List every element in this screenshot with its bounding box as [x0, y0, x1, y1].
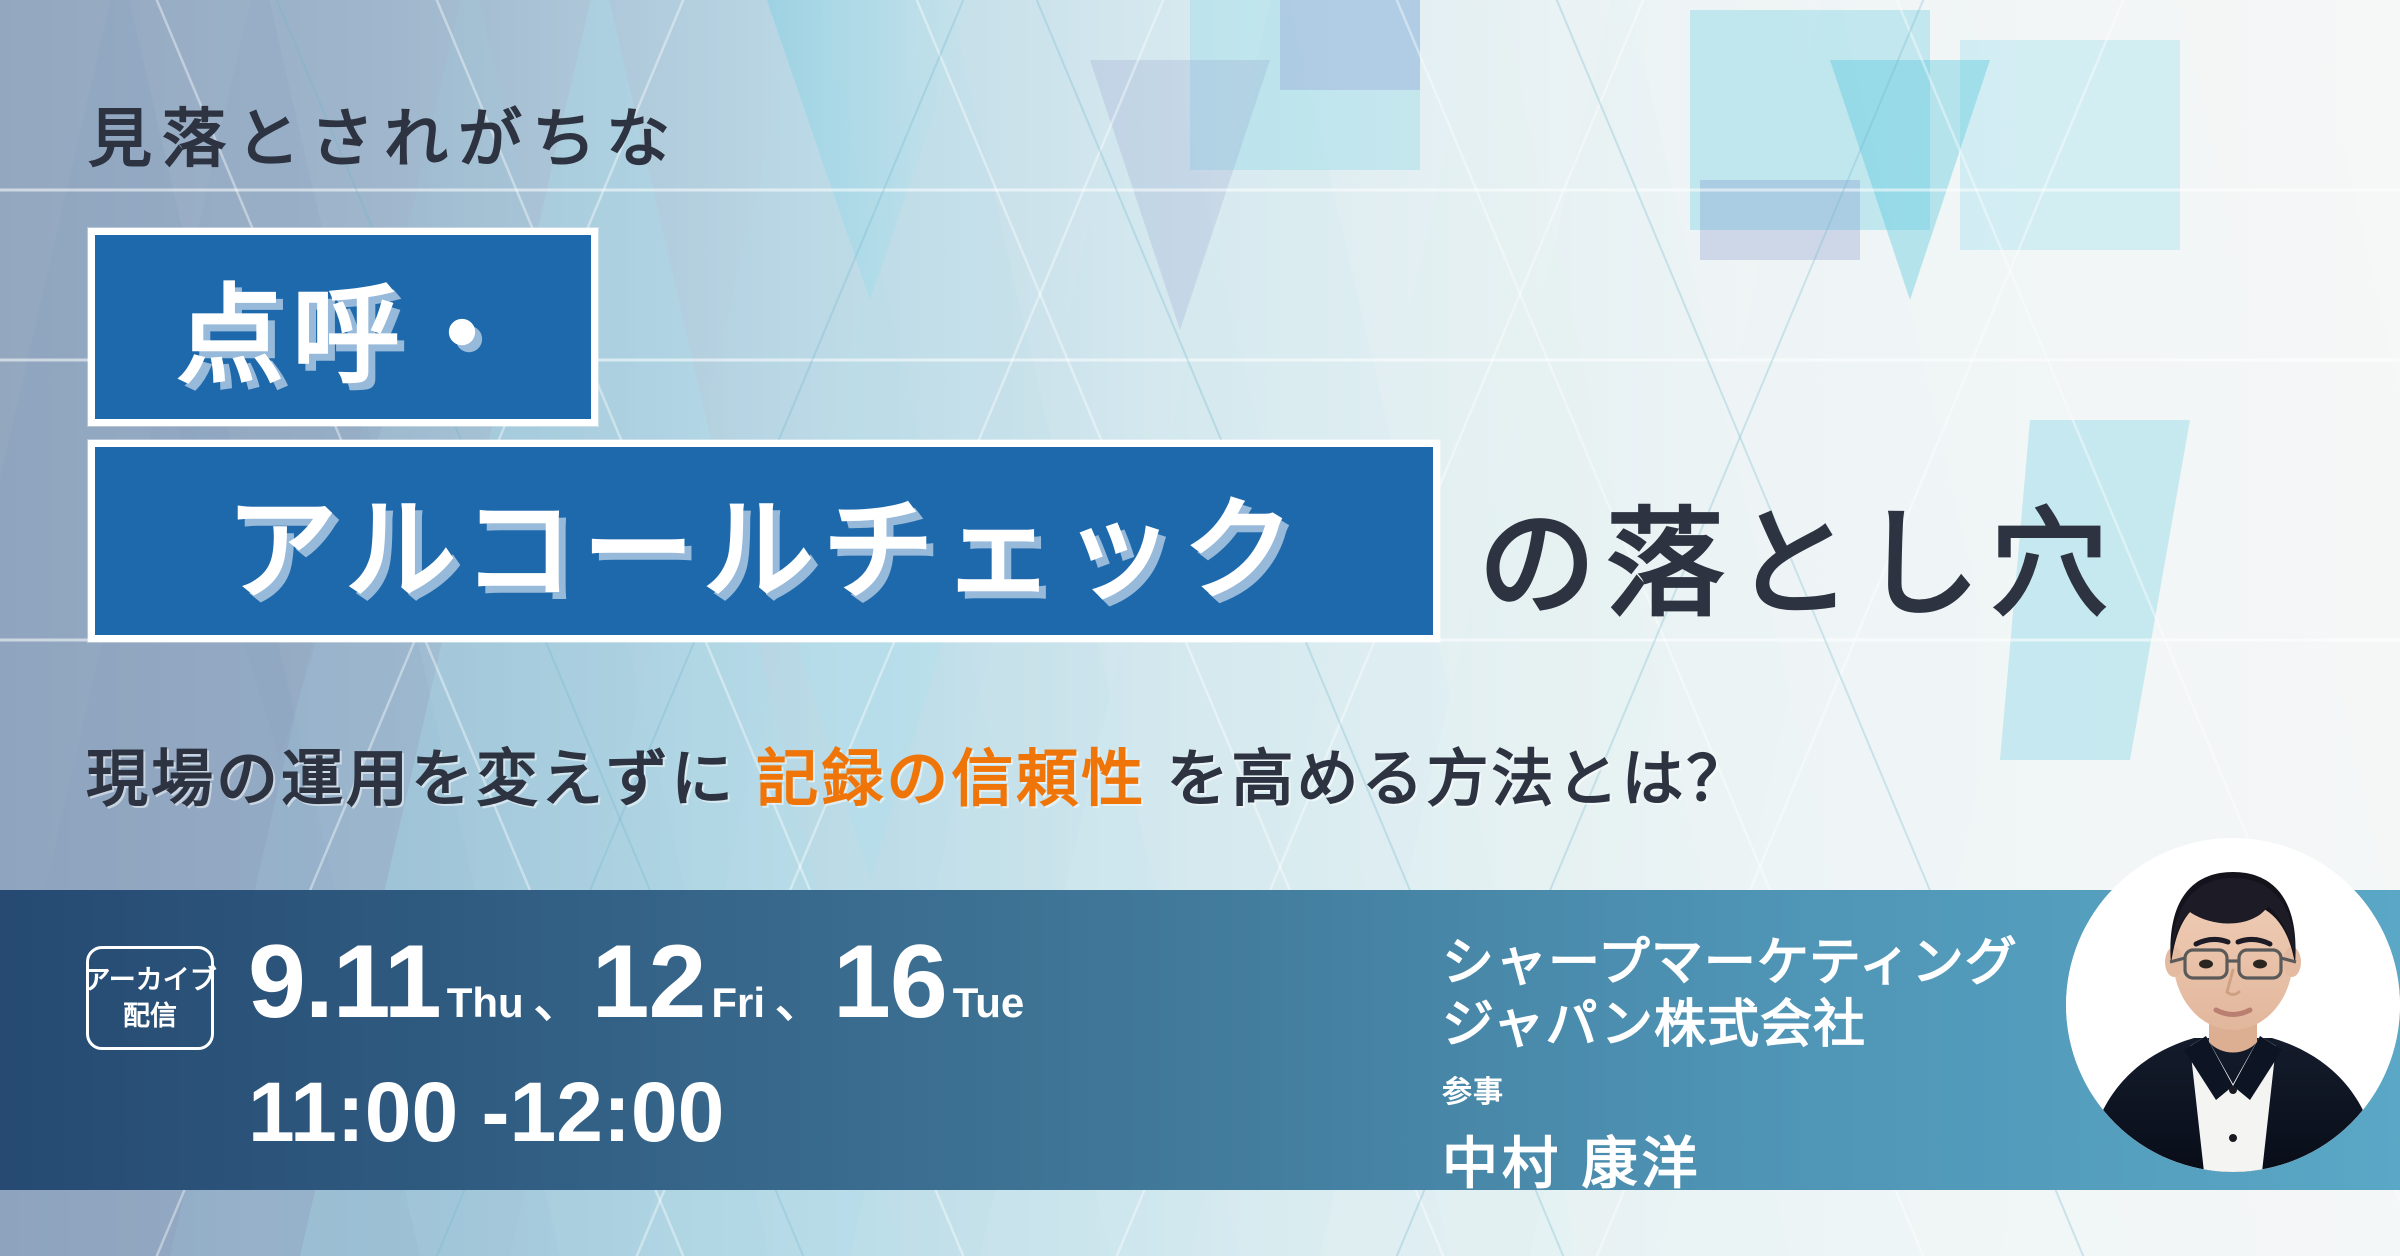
date-separator-1: 、 [534, 978, 582, 1026]
speaker-job-title: 参事 [1442, 1067, 2018, 1111]
event-date-row: 9.11 Thu 、 12 Fri 、 16 Tue [248, 930, 1024, 1034]
headline-area: 見落とされがちな 点呼・ アルコールチェック の落とし穴 現場の運用を変えずに … [0, 0, 2400, 890]
date-1-dayofweek: Thu [447, 982, 524, 1024]
subtitle-prefix: 現場の運用を変えずに [86, 745, 756, 814]
archive-badge-line-1: アーカイブ [83, 962, 216, 998]
subtitle-suffix: を高める方法とは？ [1146, 745, 1751, 814]
subtitle-line: 現場の運用を変えずに 記録の信頼性 を高める方法とは？ [86, 728, 1751, 818]
archive-badge-line-2: 配信 [123, 998, 177, 1034]
archive-badge: アーカイブ 配信 [86, 946, 214, 1050]
event-time: 11:00 -12:00 [248, 1070, 724, 1154]
date-separator-2: 、 [775, 978, 823, 1026]
speaker-name: 中村 康洋 [1442, 1119, 2018, 1200]
speaker-portrait-illustration [2066, 838, 2400, 1172]
headline-tail-text: の落とし穴 [1478, 468, 2118, 639]
highlight-box-alcohol-check: アルコールチェック [88, 440, 1440, 642]
eyebrow-text: 見落とされがちな [88, 88, 680, 180]
highlight-box-tenko: 点呼・ [88, 228, 598, 426]
speaker-company-line-1: シャープマーケティング [1442, 932, 2018, 994]
webinar-banner: 見落とされがちな 点呼・ アルコールチェック の落とし穴 現場の運用を変えずに … [0, 0, 2400, 1256]
subtitle-accent: 記録の信頼性 [756, 745, 1146, 814]
date-1-number: 9.11 [248, 930, 441, 1034]
speaker-company-line-2: ジャパン株式会社 [1442, 994, 2018, 1056]
date-3-dayofweek: Tue [953, 982, 1025, 1024]
speaker-avatar [2066, 838, 2400, 1172]
date-3-number: 16 [833, 930, 947, 1034]
date-2-dayofweek: Fri [711, 982, 765, 1024]
date-2-number: 12 [592, 930, 706, 1034]
speaker-info: シャープマーケティング ジャパン株式会社 参事 中村 康洋 [1442, 932, 2018, 1200]
schedule-bar: アーカイブ 配信 9.11 Thu 、 12 Fri 、 16 Tue 11:0… [0, 890, 2400, 1190]
highlight-box-tenko-label: 点呼・ [162, 249, 524, 405]
highlight-box-alcohol-check-label: アルコールチェック [226, 460, 1303, 622]
